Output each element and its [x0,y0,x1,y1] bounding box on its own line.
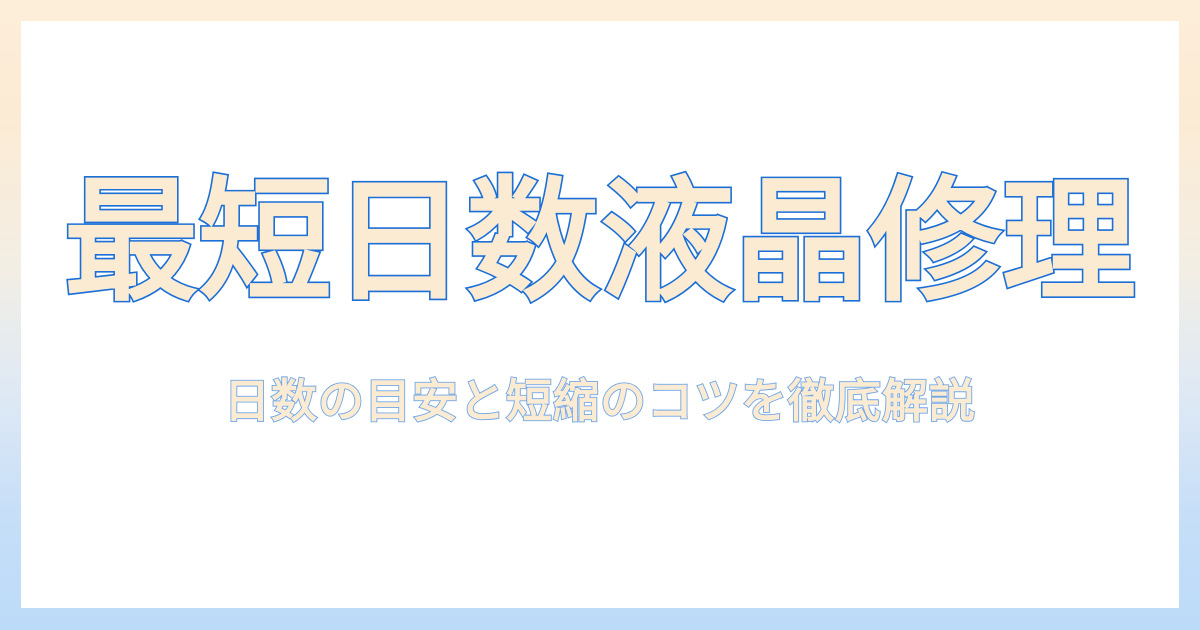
content-card: 最短日数液晶修理 日数の目安と短縮のコツを徹底解説 [21,21,1179,608]
content-stack: 最短日数液晶修理 日数の目安と短縮のコツを徹底解説 [21,21,1179,608]
page-subtitle: 日数の目安と短縮のコツを徹底解説 [224,374,976,429]
subtitle-block: 日数の目安と短縮のコツを徹底解説 [21,374,1179,429]
page-title: 最短日数液晶修理 [64,172,1136,313]
eyecatch-banner: 最短日数液晶修理 日数の目安と短縮のコツを徹底解説 [0,0,1200,630]
title-block: 最短日数液晶修理 [21,172,1179,313]
